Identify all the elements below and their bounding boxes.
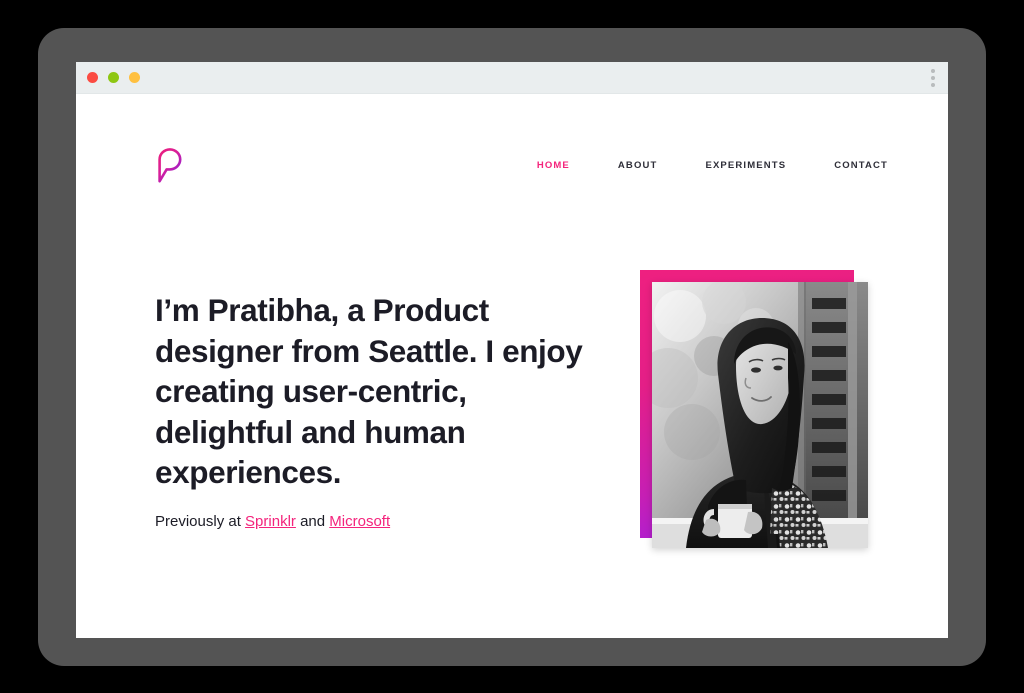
nav-item-experiments[interactable]: EXPERIMENTS (705, 160, 786, 171)
portrait-photo (652, 282, 868, 548)
link-sprinklr[interactable]: Sprinklr (245, 513, 296, 530)
kebab-dot (931, 76, 935, 80)
nav-item-home[interactable]: HOME (537, 160, 570, 171)
screenshot-stage: HOME ABOUT EXPERIMENTS CONTACT I’m Prati… (0, 0, 1024, 693)
page-title: I’m Pratibha, a Product designer from Se… (155, 290, 585, 493)
hero-copy: I’m Pratibha, a Product designer from Se… (155, 290, 585, 532)
speech-bubble-p-logo-icon (155, 146, 189, 184)
nav-item-contact[interactable]: CONTACT (834, 160, 888, 171)
kebab-dot (931, 83, 935, 87)
window-controls (87, 72, 140, 83)
hero-portrait (640, 270, 880, 560)
link-microsoft[interactable]: Microsoft (329, 513, 390, 530)
hero-subline: Previously at Sprinklr and Microsoft (155, 512, 585, 532)
close-button[interactable] (87, 72, 98, 83)
main-nav: HOME ABOUT EXPERIMENTS CONTACT (537, 160, 888, 171)
subline-prefix: Previously at (155, 513, 245, 530)
subline-conjunction: and (296, 513, 329, 530)
browser-window: HOME ABOUT EXPERIMENTS CONTACT I’m Prati… (76, 62, 948, 638)
nav-item-about[interactable]: ABOUT (618, 160, 658, 171)
browser-title-bar (76, 62, 948, 94)
page-content: HOME ABOUT EXPERIMENTS CONTACT I’m Prati… (76, 94, 948, 638)
portrait-image (652, 282, 868, 548)
kebab-dot (931, 69, 935, 73)
kebab-menu-icon[interactable] (931, 69, 935, 87)
maximize-button[interactable] (129, 72, 140, 83)
minimize-button[interactable] (108, 72, 119, 83)
site-logo[interactable] (155, 146, 189, 184)
site-header: HOME ABOUT EXPERIMENTS CONTACT (76, 94, 948, 212)
